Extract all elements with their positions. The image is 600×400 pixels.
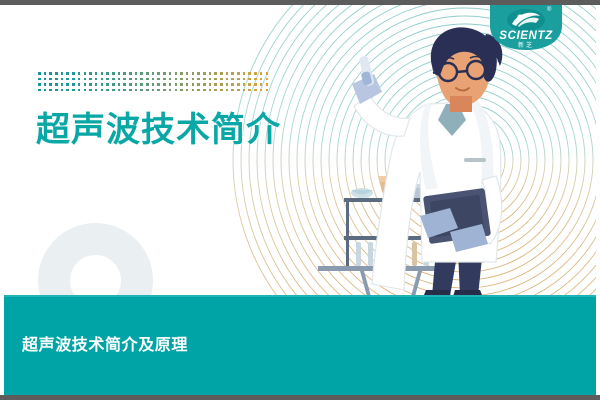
grid-dot xyxy=(214,89,217,92)
grid-dot xyxy=(248,83,251,86)
frame-edge-left xyxy=(0,0,4,400)
grid-dot xyxy=(72,89,75,92)
grid-dot xyxy=(203,83,206,86)
grid-dot xyxy=(220,78,223,81)
grid-dot xyxy=(112,78,115,81)
grid-dot xyxy=(231,72,234,75)
grid-dot xyxy=(66,78,69,81)
grid-dot xyxy=(254,89,257,92)
grid-dot xyxy=(72,78,75,81)
grid-dot xyxy=(106,78,109,81)
grid-dot xyxy=(44,78,47,81)
grid-dot xyxy=(152,89,155,92)
grid-dot xyxy=(175,89,178,92)
grid-dot xyxy=(123,89,126,92)
grid-dot xyxy=(78,89,81,92)
grid-dot xyxy=(186,72,189,75)
grid-dot xyxy=(84,72,87,75)
grid-dot xyxy=(237,83,240,86)
grid-dot xyxy=(118,78,121,81)
grid-dot xyxy=(192,78,195,81)
grid-dot xyxy=(55,83,58,86)
grid-dot xyxy=(129,89,132,92)
grid-dot xyxy=(61,72,64,75)
grid-dot xyxy=(226,78,229,81)
grid-dot xyxy=(197,78,200,81)
grid-dot xyxy=(186,78,189,81)
grid-dot xyxy=(129,78,132,81)
presentation-slide: 超声波技术简介 xyxy=(0,0,600,400)
grid-dot xyxy=(248,72,251,75)
grid-dot xyxy=(192,72,195,75)
banner-top-rule xyxy=(0,295,600,297)
grid-dot xyxy=(180,83,183,86)
grid-dot xyxy=(231,78,234,81)
grid-dot xyxy=(169,72,172,75)
grid-dot xyxy=(231,83,234,86)
grid-dot xyxy=(266,83,269,86)
bottom-banner: 超声波技术简介及原理 xyxy=(0,295,600,395)
grid-dot xyxy=(140,83,143,86)
grid-dot xyxy=(44,89,47,92)
grid-dot xyxy=(55,78,58,81)
grid-dot xyxy=(118,72,121,75)
grid-dot xyxy=(197,83,200,86)
test-tube xyxy=(359,55,375,86)
grid-dot xyxy=(89,83,92,86)
grid-dot xyxy=(112,72,115,75)
grid-dot xyxy=(260,78,263,81)
grid-dot xyxy=(78,72,81,75)
grid-dot xyxy=(180,78,183,81)
grid-dot xyxy=(129,72,132,75)
grid-dot xyxy=(152,83,155,86)
grid-dot xyxy=(146,78,149,81)
grid-dot xyxy=(66,83,69,86)
logo-wordmark: SCIENTZ xyxy=(499,30,553,42)
grid-dot xyxy=(163,83,166,86)
grid-dot xyxy=(95,72,98,75)
grid-dot xyxy=(49,89,52,92)
grid-dot xyxy=(260,72,263,75)
grid-dot xyxy=(197,89,200,92)
grid-dot xyxy=(163,89,166,92)
grid-dot xyxy=(135,89,138,92)
grid-dot xyxy=(157,83,160,86)
grid-dot xyxy=(157,72,160,75)
grid-dot xyxy=(135,72,138,75)
grid-dot xyxy=(84,78,87,81)
grid-dot xyxy=(248,89,251,92)
grid-dot xyxy=(157,89,160,92)
page-title: 超声波技术简介 xyxy=(36,102,281,151)
slide-canvas: 超声波技术简介 xyxy=(0,5,600,395)
grid-dot xyxy=(95,89,98,92)
grid-dot xyxy=(266,89,269,92)
grid-dot xyxy=(254,72,257,75)
grid-dot xyxy=(226,83,229,86)
grid-dot xyxy=(192,89,195,92)
grid-dot xyxy=(101,78,104,81)
safety-glove xyxy=(352,74,382,104)
grid-dot xyxy=(163,72,166,75)
grid-dot xyxy=(38,78,41,81)
grid-dot xyxy=(157,78,160,81)
grid-dot xyxy=(72,83,75,86)
grid-dot xyxy=(254,83,257,86)
grid-dot xyxy=(243,72,246,75)
raised-arm-graphic xyxy=(352,55,410,136)
grid-dot xyxy=(112,83,115,86)
grid-dot xyxy=(226,89,229,92)
grid-dot xyxy=(84,89,87,92)
clipboard-arm-graphic xyxy=(420,176,502,252)
grid-dot xyxy=(106,89,109,92)
grid-dot xyxy=(123,83,126,86)
grid-dot xyxy=(89,89,92,92)
grid-dot xyxy=(112,89,115,92)
grid-dot xyxy=(61,83,64,86)
dot-grid-row xyxy=(38,89,271,95)
grid-dot xyxy=(49,78,52,81)
frame-edge-bottom xyxy=(0,395,600,400)
grid-dot xyxy=(95,78,98,81)
grid-dot xyxy=(61,89,64,92)
grid-dot xyxy=(186,89,189,92)
grid-dot xyxy=(214,83,217,86)
grid-dot xyxy=(266,72,269,75)
grid-dot xyxy=(197,72,200,75)
grid-dot xyxy=(140,72,143,75)
grid-dot xyxy=(175,72,178,75)
grid-dot xyxy=(209,72,212,75)
grid-dot xyxy=(237,89,240,92)
grid-dot xyxy=(140,78,143,81)
grid-dot xyxy=(243,78,246,81)
grid-dot xyxy=(214,78,217,81)
grid-dot xyxy=(203,78,206,81)
dot-grid-decoration xyxy=(38,72,271,94)
grid-dot xyxy=(123,72,126,75)
grid-dot xyxy=(49,83,52,86)
grid-dot xyxy=(220,72,223,75)
grid-dot xyxy=(180,89,183,92)
grid-dot xyxy=(248,78,251,81)
grid-dot xyxy=(118,83,121,86)
grid-dot xyxy=(101,72,104,75)
grid-dot xyxy=(231,89,234,92)
grid-dot xyxy=(169,89,172,92)
grid-dot xyxy=(237,72,240,75)
lab-cart-graphic xyxy=(344,176,446,266)
grid-dot xyxy=(101,83,104,86)
grid-dot xyxy=(186,83,189,86)
grid-dot xyxy=(78,78,81,81)
grid-dot xyxy=(49,72,52,75)
registered-mark: ® xyxy=(547,6,552,13)
slide-subtitle: 超声波技术简介及原理 xyxy=(22,331,188,355)
grid-dot xyxy=(214,72,217,75)
grid-dot xyxy=(254,78,257,81)
grid-dot xyxy=(175,83,178,86)
grid-dot xyxy=(135,78,138,81)
grid-dot xyxy=(169,83,172,86)
grid-dot xyxy=(106,72,109,75)
grid-dot xyxy=(226,72,229,75)
grid-dot xyxy=(89,72,92,75)
grid-dot xyxy=(101,89,104,92)
frame-edge-right xyxy=(596,0,600,400)
grid-dot xyxy=(220,89,223,92)
grid-dot xyxy=(220,83,223,86)
grid-dot xyxy=(78,83,81,86)
grid-dot xyxy=(243,89,246,92)
lab-coat-graphic xyxy=(372,100,501,290)
grid-dot xyxy=(260,83,263,86)
grid-dot xyxy=(123,78,126,81)
grid-dot xyxy=(203,72,206,75)
grid-dot xyxy=(55,72,58,75)
grid-dot xyxy=(169,78,172,81)
grid-dot xyxy=(129,83,132,86)
grid-dot xyxy=(163,78,166,81)
grid-dot xyxy=(106,83,109,86)
grid-dot xyxy=(260,89,263,92)
logo-wordmark-cn: 新芝 xyxy=(518,41,534,49)
grid-dot xyxy=(152,72,155,75)
grid-dot xyxy=(38,72,41,75)
grid-dot xyxy=(140,89,143,92)
grid-dot xyxy=(84,83,87,86)
grid-dot xyxy=(237,78,240,81)
grid-dot xyxy=(89,78,92,81)
grid-dot xyxy=(192,83,195,86)
scientz-logo[interactable]: ® SCIENTZ 新芝 xyxy=(490,0,562,50)
grid-dot xyxy=(146,89,149,92)
grid-dot xyxy=(72,72,75,75)
grid-dot xyxy=(209,89,212,92)
grid-dot xyxy=(209,78,212,81)
clipboard xyxy=(423,188,491,244)
grid-dot xyxy=(266,78,269,81)
grid-dot xyxy=(146,83,149,86)
grid-dot xyxy=(44,72,47,75)
trousers-graphic xyxy=(422,186,486,300)
grid-dot xyxy=(243,83,246,86)
grid-dot xyxy=(44,83,47,86)
frame-edge-top xyxy=(0,0,600,5)
grid-dot xyxy=(66,72,69,75)
grid-dot xyxy=(152,78,155,81)
grid-dot xyxy=(95,83,98,86)
grid-dot xyxy=(146,72,149,75)
grid-dot xyxy=(38,89,41,92)
grid-dot xyxy=(203,89,206,92)
grid-dot xyxy=(55,89,58,92)
grid-dot xyxy=(209,83,212,86)
grid-dot xyxy=(61,78,64,81)
grid-dot xyxy=(118,89,121,92)
grid-dot xyxy=(175,78,178,81)
grid-dot xyxy=(180,72,183,75)
grid-dot xyxy=(66,89,69,92)
grid-dot xyxy=(38,83,41,86)
grid-dot xyxy=(135,83,138,86)
